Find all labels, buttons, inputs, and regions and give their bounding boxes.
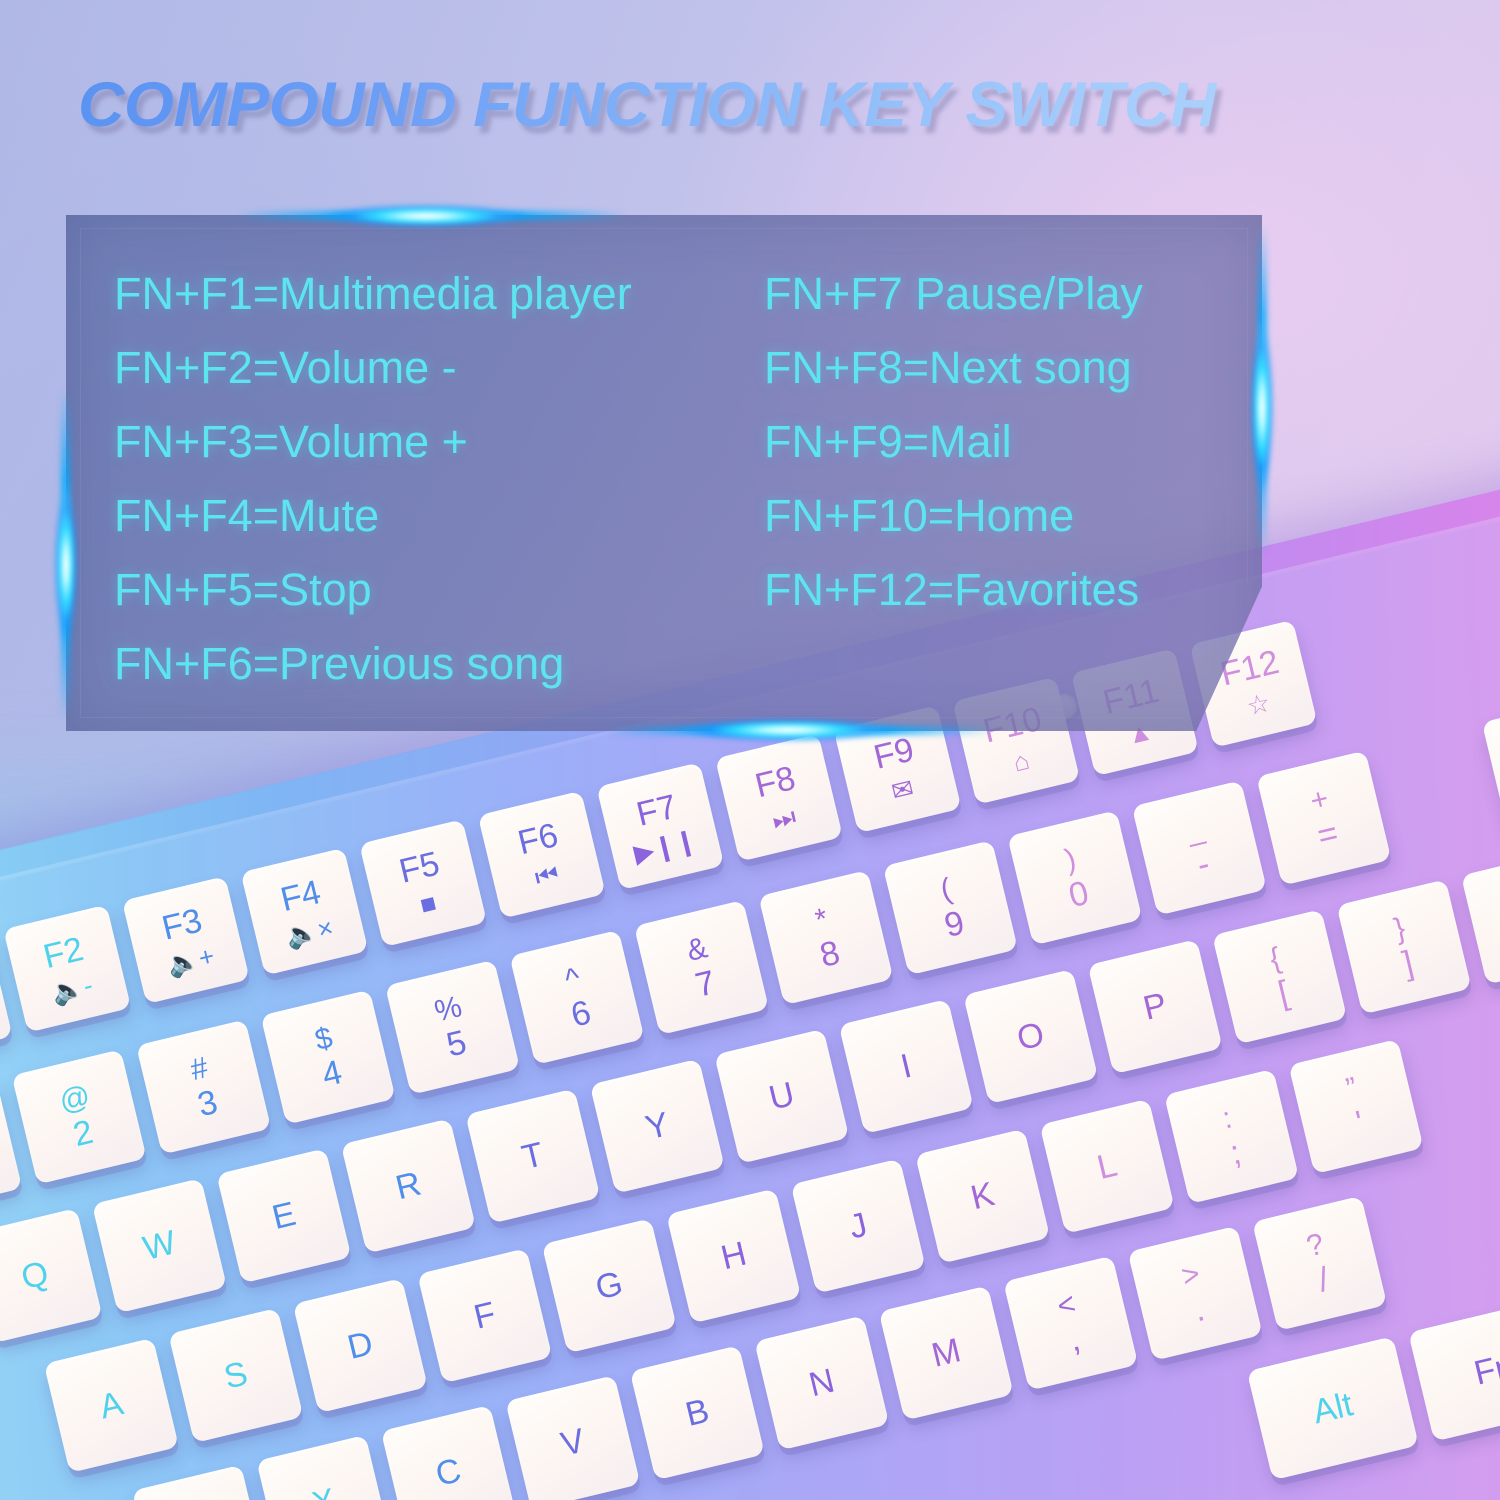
- key-shifted-legend: >: [1179, 1259, 1203, 1292]
- key-shifted-legend: +: [1307, 783, 1331, 816]
- keyboard-backspace-row: Back: [1482, 665, 1500, 831]
- key-6[interactable]: ^6: [509, 930, 644, 1065]
- product-marketing-image: COMPOUND FUNCTION KEY SWITCH F1♪F2🔈-F3🔈+…: [0, 0, 1500, 1500]
- key-o[interactable]: O: [963, 969, 1098, 1104]
- key-legend: 2: [70, 1114, 96, 1151]
- shortcut-line: FN+F2=Volume -: [114, 331, 764, 405]
- keyboard-modifier-row: AltFnE: [1247, 1255, 1500, 1480]
- key-[interactable]: {[: [1212, 909, 1347, 1044]
- key-g[interactable]: G: [542, 1218, 677, 1353]
- key-legend: 7: [692, 965, 718, 1002]
- key-legend: H: [718, 1237, 750, 1276]
- key-9[interactable]: (9: [883, 840, 1018, 975]
- key-legend: F5: [396, 846, 443, 888]
- key-legend: -: [1194, 846, 1213, 882]
- shortcut-line: FN+F8=Next song: [764, 331, 1244, 405]
- key-legend: D: [344, 1326, 376, 1365]
- key-e[interactable]: E: [216, 1148, 351, 1283]
- key-shifted-legend: {: [1267, 943, 1284, 975]
- key-legend: 5: [443, 1025, 469, 1062]
- volume-down-icon: 🔈-: [49, 971, 95, 1006]
- key-v[interactable]: V: [505, 1375, 640, 1500]
- key-legend: F4: [277, 874, 324, 916]
- key-backspace-back[interactable]: Back: [1482, 669, 1500, 832]
- key-legend: V: [558, 1424, 588, 1462]
- shortcut-info-panel: FN+F1=Multimedia player FN+F2=Volume - F…: [66, 215, 1262, 731]
- mail-icon: ✉: [889, 774, 916, 804]
- key-[interactable]: |\: [1461, 850, 1500, 985]
- key-legend: 8: [817, 935, 843, 972]
- key-f8[interactable]: F8⏭: [715, 734, 843, 862]
- key-7[interactable]: &7: [634, 900, 769, 1035]
- key-legend: 3: [194, 1084, 220, 1121]
- key-legend: E: [269, 1197, 299, 1235]
- key-legend: W: [140, 1225, 179, 1266]
- keyboard-bottom-letter-row: ZXCVBNM<,>.?/: [132, 1192, 1403, 1500]
- shortcut-line: FN+F7 Pause/Play: [764, 257, 1244, 331]
- key-0[interactable]: )0: [1007, 810, 1142, 945]
- key-shifted-legend: :: [1220, 1103, 1235, 1134]
- key-u[interactable]: U: [714, 1029, 849, 1164]
- shortcut-line: FN+F10=Home: [764, 479, 1244, 553]
- key-4[interactable]: $4: [261, 990, 396, 1125]
- key-legend: U: [766, 1077, 798, 1116]
- key-t[interactable]: T: [465, 1089, 600, 1224]
- key-legend: ,: [1066, 1322, 1083, 1357]
- key-legend: F: [471, 1297, 499, 1335]
- key-[interactable]: >.: [1128, 1226, 1263, 1361]
- key-l[interactable]: L: [1040, 1099, 1175, 1234]
- next-track-icon: ⏭: [769, 802, 798, 833]
- key-legend: Fn: [1471, 1348, 1500, 1390]
- key-1[interactable]: !1: [0, 1079, 22, 1214]
- key-shifted-legend: ?: [1304, 1229, 1327, 1262]
- key-shifted-legend: %: [432, 992, 465, 1027]
- shortcut-column-left: FN+F1=Multimedia player FN+F2=Volume - F…: [114, 257, 764, 701]
- key-legend: M: [928, 1333, 963, 1373]
- key-3[interactable]: #3: [136, 1020, 271, 1155]
- key-w[interactable]: W: [92, 1178, 227, 1313]
- key-f2[interactable]: F2🔈-: [3, 905, 131, 1033]
- shortcut-line: FN+F9=Mail: [764, 405, 1244, 479]
- key-legend: ]: [1399, 945, 1416, 980]
- key-legend: F3: [159, 903, 206, 945]
- key-r[interactable]: R: [341, 1118, 476, 1253]
- key-shifted-legend: *: [812, 904, 830, 936]
- key-q[interactable]: Q: [0, 1208, 103, 1343]
- key-legend: C: [432, 1453, 464, 1492]
- key-h[interactable]: H: [666, 1188, 801, 1323]
- key-[interactable]: <,: [1003, 1256, 1138, 1391]
- key-s[interactable]: S: [168, 1308, 303, 1443]
- key-legend: P: [1140, 988, 1170, 1026]
- shortcut-column-right: FN+F7 Pause/Play FN+F8=Next song FN+F9=M…: [764, 257, 1244, 701]
- key-legend: N: [806, 1364, 838, 1403]
- key-legend: B: [682, 1394, 712, 1432]
- key-shifted-legend: $: [312, 1023, 335, 1056]
- key-f5[interactable]: F5■: [359, 819, 487, 947]
- key-shifted-legend: &: [684, 933, 710, 967]
- key-legend: Alt: [1310, 1387, 1357, 1429]
- key-p[interactable]: P: [1088, 939, 1223, 1074]
- key-b[interactable]: B: [630, 1345, 765, 1480]
- key-c[interactable]: C: [381, 1405, 516, 1500]
- key-[interactable]: }]: [1337, 879, 1472, 1014]
- key-legend: ': [1353, 1105, 1367, 1140]
- key-legend: L: [1094, 1148, 1120, 1185]
- key-alt[interactable]: Alt: [1247, 1336, 1419, 1480]
- key-fn[interactable]: Fn: [1408, 1298, 1500, 1442]
- key-shifted-legend: ”: [1343, 1073, 1360, 1105]
- key-legend: F7: [633, 789, 680, 831]
- page-title: COMPOUND FUNCTION KEY SWITCH: [78, 72, 1465, 138]
- key-f3[interactable]: F3🔈+: [122, 876, 250, 1004]
- key-legend: O: [1014, 1017, 1048, 1056]
- keyboard-home-row: ASDFGHJKL:;”': [44, 1035, 1439, 1473]
- shortcut-line: FN+F6=Previous song: [114, 627, 764, 701]
- key-legend: R: [392, 1167, 424, 1206]
- mute-icon: 🔈×: [283, 913, 335, 949]
- shortcut-line: FN+F4=Mute: [114, 479, 764, 553]
- key-legend: Y: [642, 1107, 672, 1145]
- key-[interactable]: ”': [1288, 1039, 1423, 1174]
- key-legend: 4: [319, 1054, 345, 1091]
- key-legend: =: [1314, 815, 1341, 853]
- key-legend: T: [519, 1137, 547, 1175]
- key-2[interactable]: @2: [12, 1049, 147, 1184]
- key-legend: A: [96, 1386, 126, 1424]
- key-x[interactable]: X: [256, 1435, 391, 1500]
- shortcut-line: FN+F5=Stop: [114, 553, 764, 627]
- key-legend: S: [221, 1356, 251, 1394]
- key-j[interactable]: J: [791, 1159, 926, 1294]
- key-shifted-legend: _: [1183, 813, 1206, 846]
- key-legend: K: [968, 1177, 998, 1215]
- key-legend: Q: [18, 1256, 52, 1295]
- key-[interactable]: ?/: [1252, 1196, 1387, 1331]
- key-legend: F2: [40, 931, 87, 973]
- key-f[interactable]: F: [417, 1248, 552, 1383]
- previous-track-icon: ⏮: [532, 859, 561, 890]
- key-shifted-legend: @: [57, 1081, 94, 1117]
- volume-up-icon: 🔈+: [164, 942, 216, 978]
- key-f7[interactable]: F7▶❙❙: [596, 762, 724, 890]
- key-8[interactable]: *8: [758, 870, 893, 1005]
- key-legend: .: [1190, 1292, 1207, 1327]
- play-pause-icon: ▶❙❙: [631, 826, 699, 866]
- key-shifted-legend: <: [1054, 1289, 1078, 1322]
- key-y[interactable]: Y: [590, 1059, 725, 1194]
- key-legend: 0: [1066, 875, 1092, 912]
- key-shifted-legend: }: [1391, 913, 1408, 945]
- key-5[interactable]: %5: [385, 960, 520, 1095]
- shortcut-line: FN+F3=Volume +: [114, 405, 764, 479]
- key-legend: [: [1275, 975, 1292, 1010]
- key-z[interactable]: Z: [132, 1465, 267, 1500]
- key-n[interactable]: N: [754, 1315, 889, 1450]
- key-[interactable]: _-: [1132, 780, 1267, 915]
- keyboard-number-row: !1@2#3$4%5^6&7*8(9)0_-+=: [0, 747, 1407, 1214]
- key-f1[interactable]: F1♪: [0, 933, 12, 1061]
- key-[interactable]: +=: [1256, 751, 1391, 886]
- key-k[interactable]: K: [915, 1129, 1050, 1264]
- key-legend: G: [592, 1266, 626, 1305]
- key-a[interactable]: A: [44, 1338, 179, 1473]
- key-legend: ;: [1227, 1135, 1244, 1170]
- stop-icon: ■: [417, 889, 438, 918]
- key-legend: X: [309, 1483, 339, 1500]
- case-screw: [422, 841, 453, 872]
- key-m[interactable]: M: [879, 1286, 1014, 1421]
- key-d[interactable]: D: [293, 1278, 428, 1413]
- key-shifted-legend: #: [188, 1053, 211, 1086]
- key-legend: F9: [870, 732, 917, 774]
- shortcut-columns: FN+F1=Multimedia player FN+F2=Volume - F…: [114, 257, 1252, 701]
- key-f6[interactable]: F6⏮: [478, 791, 606, 919]
- keyboard-qwerty-row: QWERTYUIOP{[}]|\: [0, 846, 1500, 1343]
- key-f4[interactable]: F4🔈×: [241, 848, 369, 976]
- key-legend: I: [898, 1049, 915, 1084]
- key-legend: 9: [941, 905, 967, 942]
- key-i[interactable]: I: [839, 999, 974, 1134]
- key-[interactable]: :;: [1164, 1069, 1299, 1204]
- key-legend: J: [846, 1208, 870, 1245]
- shortcut-line: FN+F12=Favorites: [764, 553, 1244, 627]
- key-shifted-legend: ): [1062, 844, 1079, 876]
- key-shifted-legend: (: [938, 874, 955, 906]
- key-legend: /: [1315, 1262, 1332, 1297]
- home-icon: ⌂: [1010, 746, 1031, 775]
- key-shifted-legend: ^: [562, 963, 583, 995]
- key-legend: F8: [752, 761, 799, 803]
- shortcut-line: FN+F1=Multimedia player: [114, 257, 764, 331]
- key-legend: 6: [568, 995, 594, 1032]
- key-legend: F6: [515, 817, 562, 859]
